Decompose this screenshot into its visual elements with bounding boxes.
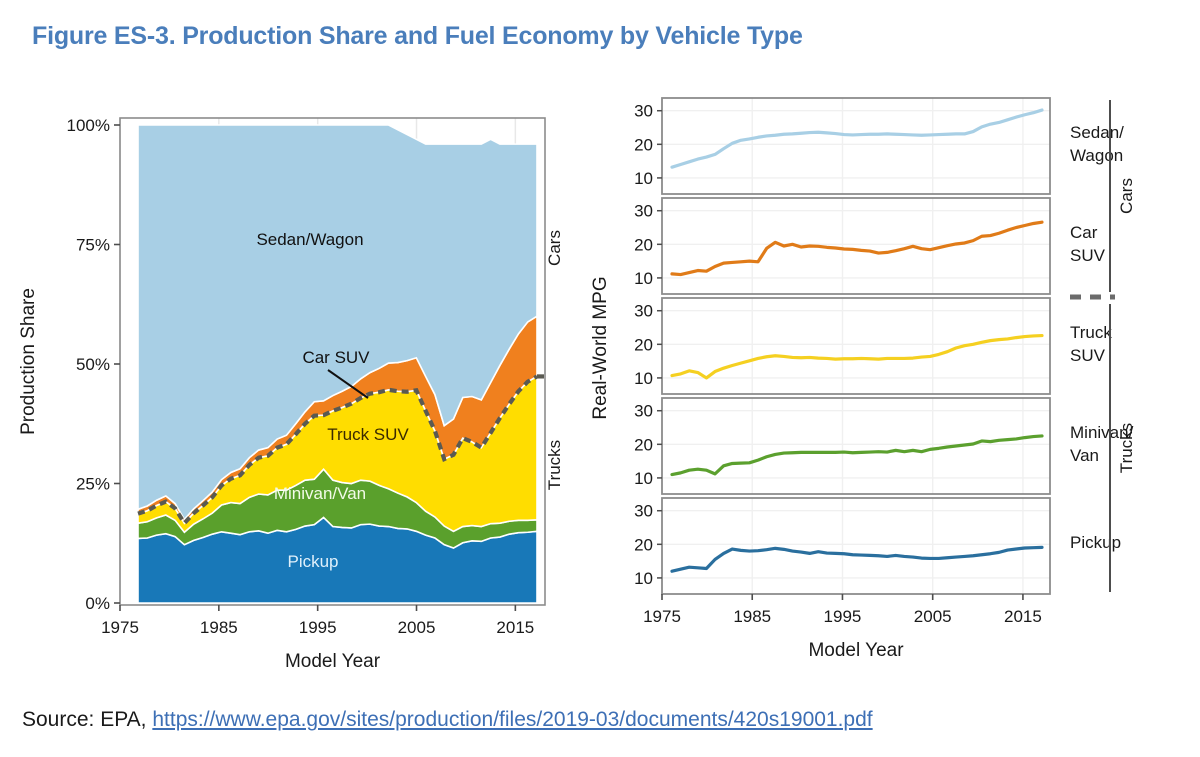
figure-title: Figure ES-3. Production Share and Fuel E…	[32, 22, 803, 51]
ytick-30: 30	[634, 102, 653, 121]
bracket-label-trucks: Trucks	[1117, 423, 1136, 473]
xtick-2015: 2015	[496, 618, 534, 637]
xtick-1975: 1975	[643, 607, 681, 626]
ytick-0%: 0%	[85, 594, 110, 613]
mpg-panel-minivan--van: 102030Minivan/Van	[634, 398, 1134, 494]
xtick-1985: 1985	[200, 618, 238, 637]
xtick-1985: 1985	[733, 607, 771, 626]
source-link[interactable]: https://www.epa.gov/sites/production/fil…	[152, 708, 872, 731]
y-axis-title: Production Share	[18, 288, 39, 435]
xtick-1975: 1975	[101, 618, 139, 637]
ytick-100%: 100%	[67, 116, 110, 135]
mpg-panel-sedan--wagon: 102030Sedan/Wagon	[634, 98, 1124, 194]
production-share-chart: 0%25%50%75%100%19751985199520052015Model…	[0, 80, 600, 700]
area-label-pickup: Pickup	[287, 552, 338, 571]
ytick-30: 30	[634, 202, 653, 221]
mpg-panels-chart: 102030Sedan/Wagon102030CarSUV102030Truck…	[580, 80, 1200, 700]
mpg-panel-pickup: 102030Pickup19751985199520052015Model Ye…	[634, 498, 1121, 661]
y-axis-title: Real-World MPG	[590, 276, 611, 419]
ytick-20: 20	[634, 335, 653, 354]
ytick-10: 10	[634, 569, 653, 588]
area-label-minivan-van: Minivan/Van	[274, 484, 366, 503]
ytick-75%: 75%	[76, 236, 110, 255]
xtick-2005: 2005	[398, 618, 436, 637]
xtick-1995: 1995	[299, 618, 337, 637]
panel-label: Car	[1070, 223, 1098, 242]
panel-label: Sedan/	[1070, 123, 1124, 142]
ytick-30: 30	[634, 402, 653, 421]
panel-label: Truck	[1070, 323, 1112, 342]
mpg-panel-truck-suv: 102030TruckSUV	[634, 298, 1112, 394]
x-axis-title: Model Year	[808, 640, 904, 661]
ytick-25%: 25%	[76, 475, 110, 494]
xtick-2015: 2015	[1004, 607, 1042, 626]
x-axis-title: Model Year	[285, 651, 381, 672]
ytick-30: 30	[634, 302, 653, 321]
ytick-50%: 50%	[76, 355, 110, 374]
source-line: Source: EPA, https://www.epa.gov/sites/p…	[22, 708, 873, 732]
bracket-label-cars: Cars	[1117, 178, 1136, 214]
ytick-10: 10	[634, 369, 653, 388]
ytick-30: 30	[634, 502, 653, 521]
panel-label: SUV	[1070, 346, 1106, 365]
ytick-10: 10	[634, 469, 653, 488]
side-label-cars: Cars	[545, 230, 564, 266]
ytick-20: 20	[634, 135, 653, 154]
ytick-20: 20	[634, 235, 653, 254]
mpg-panel-car-suv: 102030CarSUV	[634, 198, 1106, 294]
xtick-2005: 2005	[914, 607, 952, 626]
annotation-car-suv: Car SUV	[302, 348, 370, 367]
panel-label: SUV	[1070, 246, 1106, 265]
area-label-sedan-wagon: Sedan/Wagon	[256, 230, 363, 249]
source-prefix: Source: EPA,	[22, 708, 152, 731]
panel-label: Van	[1070, 446, 1099, 465]
panel-label: Wagon	[1070, 146, 1123, 165]
panel-label: Pickup	[1070, 533, 1121, 552]
xtick-1995: 1995	[824, 607, 862, 626]
ytick-20: 20	[634, 535, 653, 554]
ytick-20: 20	[634, 435, 653, 454]
ytick-10: 10	[634, 169, 653, 188]
side-label-trucks: Trucks	[545, 440, 564, 490]
area-label-truck-suv: Truck SUV	[327, 425, 409, 444]
ytick-10: 10	[634, 269, 653, 288]
